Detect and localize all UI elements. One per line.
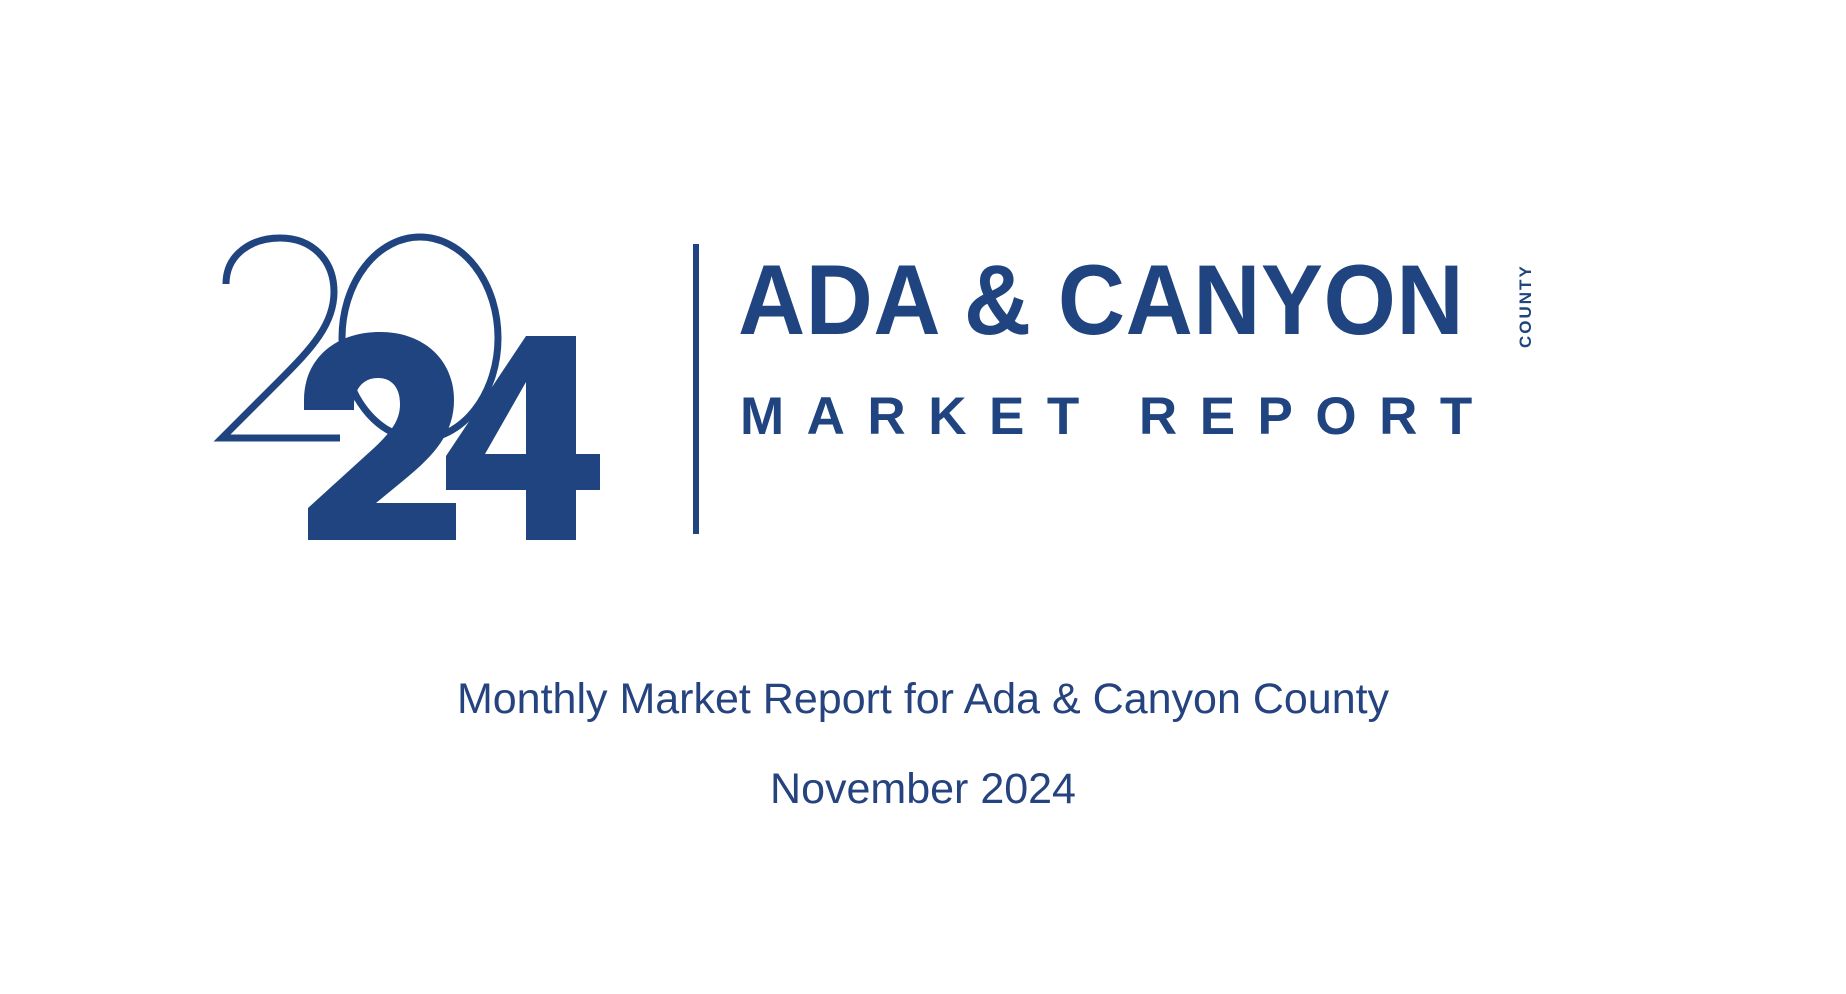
subtitle-date-line: November 2024 (0, 758, 1846, 820)
year-mark-2024-icon (208, 232, 608, 542)
logo-inner-container: ADA & CANYON COUNTY MARKET REPORT (208, 232, 1638, 572)
wordmark-primary-row: ADA & CANYON COUNTY (738, 250, 1536, 349)
subtitle-block: Monthly Market Report for Ada & Canyon C… (0, 668, 1846, 820)
wordmark-county-text: COUNTY (1516, 256, 1536, 348)
wordmark-primary-text: ADA & CANYON (738, 250, 1464, 349)
report-cover-slide: ADA & CANYON COUNTY MARKET REPORT Monthl… (0, 0, 1846, 994)
subtitle-primary-line: Monthly Market Report for Ada & Canyon C… (0, 668, 1846, 730)
brand-logo-lockup: ADA & CANYON COUNTY MARKET REPORT (0, 232, 1846, 572)
logo-divider-rule (693, 244, 699, 534)
wordmark-secondary-text: MARKET REPORT (740, 390, 1495, 443)
logo-wordmark: ADA & CANYON COUNTY MARKET REPORT (738, 232, 1638, 542)
